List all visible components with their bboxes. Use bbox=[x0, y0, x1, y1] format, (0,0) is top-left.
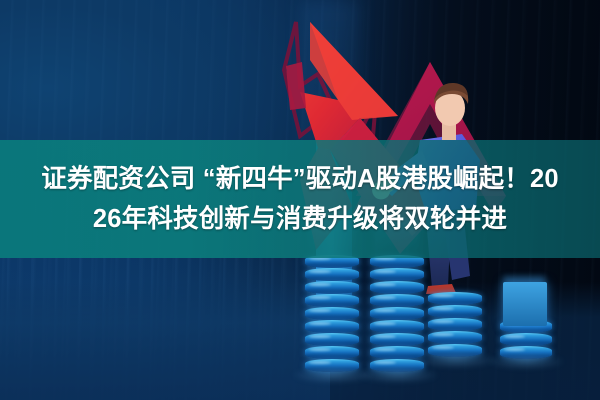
blue-column-block bbox=[503, 282, 547, 326]
headline-banner: 证券配资公司 “新四牛”驱动A股港股崛起！20 26年科技创新与消费升级将双轮并… bbox=[0, 140, 600, 258]
headline-line-1: 证券配资公司 “新四牛”驱动A股港股崛起！20 bbox=[41, 159, 558, 199]
floor-gradient-left bbox=[0, 260, 330, 400]
hero-banner-image: 证券配资公司 “新四牛”驱动A股港股崛起！20 26年科技创新与消费升级将双轮并… bbox=[0, 0, 600, 400]
headline-line-2: 26年科技创新与消费升级将双轮并进 bbox=[93, 199, 507, 239]
